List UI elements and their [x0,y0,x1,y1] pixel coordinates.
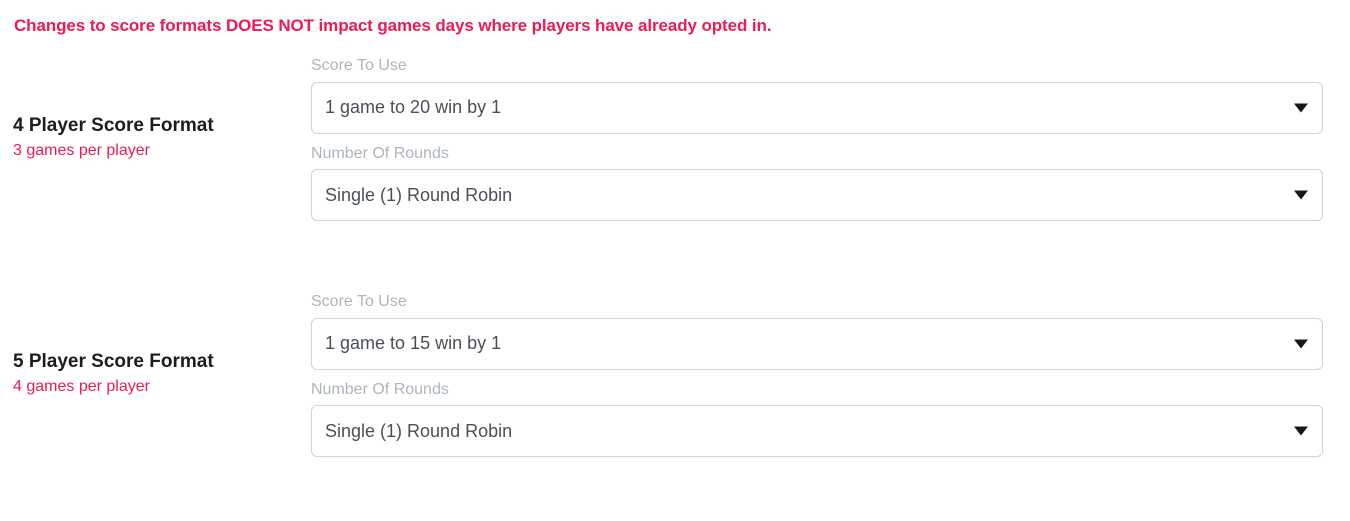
score-to-use-selected-value: 1 game to 20 win by 1 [312,97,1322,118]
score-format-fields: Score To Use 1 game to 15 win by 1 Numbe… [311,291,1350,457]
score-format-title: 4 Player Score Format [13,114,311,138]
score-format-warning-text: Changes to score formats DOES NOT impact… [14,16,771,36]
number-of-rounds-select[interactable]: Single (1) Round Robin [311,169,1323,221]
score-format-subtitle: 3 games per player [13,140,311,162]
field-group-score-to-use: Score To Use 1 game to 15 win by 1 [311,291,1323,370]
field-group-score-to-use: Score To Use 1 game to 20 win by 1 [311,55,1323,134]
score-format-row-labels: 5 Player Score Format 4 games per player [0,350,311,399]
score-format-fields: Score To Use 1 game to 20 win by 1 Numbe… [311,55,1350,221]
field-label-number-of-rounds: Number Of Rounds [311,379,1323,401]
score-format-row-4-player: 4 Player Score Format 3 games per player… [0,55,1350,221]
score-to-use-selected-value: 1 game to 15 win by 1 [312,333,1322,354]
field-label-number-of-rounds: Number Of Rounds [311,143,1323,165]
score-format-title: 5 Player Score Format [13,350,311,374]
chevron-down-icon [1294,427,1308,436]
field-label-score-to-use: Score To Use [311,291,1323,313]
number-of-rounds-selected-value: Single (1) Round Robin [312,185,1322,206]
number-of-rounds-selected-value: Single (1) Round Robin [312,421,1322,442]
score-format-settings-page: Changes to score formats DOES NOT impact… [0,0,1350,521]
score-format-row-5-player: 5 Player Score Format 4 games per player… [0,291,1350,457]
score-format-row-labels: 4 Player Score Format 3 games per player [0,114,311,163]
number-of-rounds-select[interactable]: Single (1) Round Robin [311,405,1323,457]
chevron-down-icon [1294,191,1308,200]
chevron-down-icon [1294,339,1308,348]
field-group-number-of-rounds: Number Of Rounds Single (1) Round Robin [311,379,1323,458]
score-to-use-select[interactable]: 1 game to 20 win by 1 [311,82,1323,134]
score-to-use-select[interactable]: 1 game to 15 win by 1 [311,318,1323,370]
chevron-down-icon [1294,103,1308,112]
score-format-subtitle: 4 games per player [13,376,311,398]
field-group-number-of-rounds: Number Of Rounds Single (1) Round Robin [311,143,1323,222]
field-label-score-to-use: Score To Use [311,55,1323,77]
